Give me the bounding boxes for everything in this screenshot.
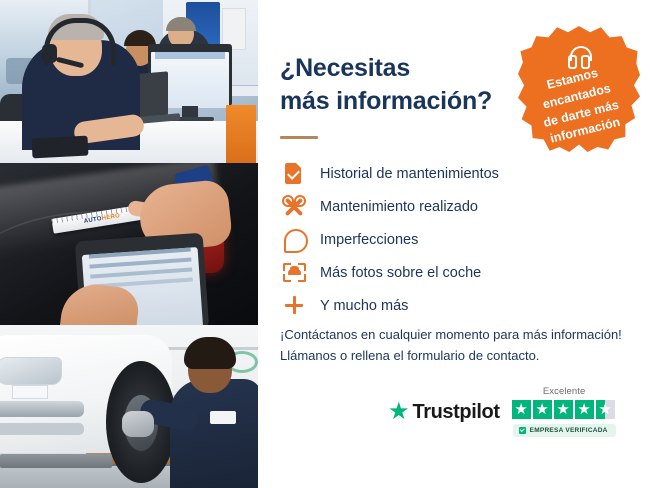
star-filled: ★ [554,400,573,419]
trustpilot-star-icon: ★ [388,400,410,424]
call-center-agents-headset-photo [0,0,258,163]
photo-collage: AUTOHERO [0,0,258,488]
plus-icon [280,293,310,319]
car-plate [12,385,48,399]
document-check-icon [280,161,310,187]
star-filled: ★ [533,400,552,419]
mechanic-body [170,379,258,488]
feature-item-imperfections: Imperfecciones [280,224,610,256]
trustpilot-rating-label: Excelente [543,386,586,397]
feature-list: Historial de mantenimientos Mantenimient… [280,158,610,323]
feature-label: Más fotos sobre el coche [320,266,481,281]
verified-check-icon [519,427,526,434]
trustpilot-wordmark: Trustpilot [413,401,500,424]
car-scan-frame-icon [280,260,310,286]
feature-item-more-photos: Más fotos sobre el coche [280,257,610,289]
mechanic-glove [122,411,154,437]
feature-label: Mantenimiento realizado [320,200,478,215]
imperfection-magnifier-icon [280,227,310,253]
info-content-panel: ¿Necesitas más información? Estamos enca… [258,0,650,488]
contact-line1: ¡Contáctanos en cualquier momento para m… [280,324,630,345]
autohero-ruler-car-inspection-photo: AUTOHERO [0,163,258,325]
feature-item-maintenance-history: Historial de mantenimientos [280,158,610,190]
tools-cross-icon [280,194,310,220]
orange-chair [226,105,256,163]
info-promo-banner: AUTOHERO [0,0,650,488]
page-title-line2: más información? [280,85,530,118]
feature-item-much-more: Y mucho más [280,290,610,322]
feature-item-maintenance-done: Mantenimiento realizado [280,191,610,223]
trustpilot-logo[interactable]: ★ Trustpilot [388,400,500,424]
mechanic-logo-patch [210,411,236,424]
verified-label: EMPRESA VERIFICADA [530,427,608,434]
star-half: ★ [596,400,615,419]
contact-line2: Llámanos o rellena el formulario de cont… [280,345,630,366]
mechanic-wheel-inspection-photo [0,325,258,488]
support-starburst-badge: Estamos encantados de darte más informac… [518,26,640,152]
feature-label: Imperfecciones [320,233,418,248]
desk-tablet [32,136,89,159]
star-filled: ★ [575,400,594,419]
title-divider [280,136,318,139]
page-title: ¿Necesitas más información? [280,52,530,118]
agent-headset-earcup [42,44,57,63]
trustpilot-score-block: Excelente ★ ★ ★ ★ ★ EMPRESA VERIFICADA [512,386,617,437]
mechanic-hair [184,337,236,369]
trustpilot-rating[interactable]: ★ Trustpilot Excelente ★ ★ ★ ★ ★ EMPRESA… [388,386,638,437]
page-title-line1: ¿Necesitas [280,52,530,85]
verified-company-badge: EMPRESA VERIFICADA [513,424,616,437]
car-grille-upper [0,401,84,417]
trustpilot-star-rating: ★ ★ ★ ★ ★ [512,400,617,419]
car-headlight [0,357,62,385]
feature-label: Historial de mantenimientos [320,167,499,182]
feature-label: Y mucho más [320,299,408,314]
headset-icon [568,46,590,66]
car-grille-lower [0,423,84,435]
contact-paragraph: ¡Contáctanos en cualquier momento para m… [280,324,630,366]
car-lift-arm [0,454,112,468]
star-filled: ★ [512,400,531,419]
